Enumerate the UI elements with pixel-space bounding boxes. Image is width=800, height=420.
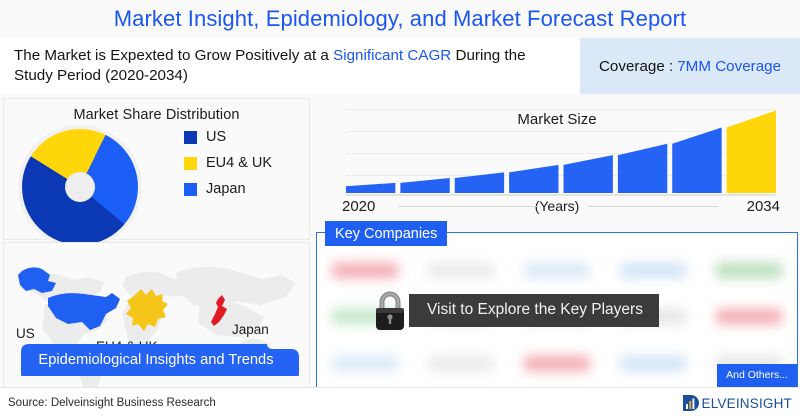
legend-label-japan: Japan: [206, 181, 246, 197]
epidemiology-banner[interactable]: Epidemiological Insights and Trends: [13, 344, 299, 376]
company-logo-cell: [701, 294, 797, 341]
bar: [564, 155, 613, 193]
axis-rule-left: [398, 206, 538, 207]
source-text: Source: Delveinsight Business Research: [8, 397, 216, 409]
market-growth-statement: The Market is Expexted to Grow Positivel…: [0, 38, 580, 94]
brand-wordmark: ELVEINSIGHT: [702, 396, 792, 411]
infographic-root: Market Insight, Epidemiology, and Market…: [0, 0, 800, 420]
axis-label-end: 2034: [747, 198, 780, 215]
pie-legend: US EU4 & UK Japan: [184, 129, 272, 197]
company-logo-blob: [620, 356, 686, 371]
and-others-badge[interactable]: And Others...: [717, 364, 797, 387]
company-logo-cell: [701, 247, 797, 294]
coverage-label: Coverage :: [599, 58, 673, 75]
bar: [400, 178, 449, 193]
coverage-panel: Coverage : 7MM Coverage: [580, 38, 800, 94]
bar: [346, 183, 395, 193]
epidemiology-map-card: US EU4 & UK Japan Epidemiological Insigh…: [4, 243, 309, 388]
company-logo-cell: [317, 340, 413, 387]
axis-rule-right: [588, 206, 718, 207]
company-logo-blob: [716, 309, 782, 324]
legend-swatch-japan: [184, 183, 197, 196]
map-label-us: US: [16, 326, 35, 341]
footer: Source: Delveinsight Business Research E…: [0, 387, 800, 420]
bar-plot: [346, 105, 776, 193]
company-logo-blob: [524, 356, 590, 371]
brand-d-icon: [682, 393, 701, 413]
company-logo-cell: [509, 340, 605, 387]
key-companies-tab: Key Companies: [325, 221, 447, 246]
market-size-chart: Market Size 2020 (Years) 2034: [316, 99, 798, 227]
company-logo-blob: [716, 263, 782, 278]
pie-chart-title: Market Share Distribution: [4, 99, 309, 123]
key-players-cta[interactable]: Visit to Explore the Key Players: [365, 285, 659, 335]
map-label-japan: Japan: [232, 322, 269, 337]
company-logo-blob: [332, 356, 398, 371]
key-players-label: Visit to Explore the Key Players: [409, 294, 659, 327]
company-logo-blob: [428, 356, 494, 371]
bar: [509, 165, 558, 193]
growth-text-part1: The Market is Expexted to Grow Positivel…: [14, 47, 333, 64]
company-logo-cell: [413, 340, 509, 387]
x-axis-line: [346, 194, 776, 196]
donut-chart: [22, 129, 138, 245]
bar: [672, 127, 721, 193]
company-logo-blob: [524, 263, 590, 278]
bar: [727, 111, 776, 193]
bar-series: [346, 105, 776, 193]
company-logo-blob: [620, 263, 686, 278]
company-logo-blob: [332, 263, 398, 278]
legend-label-eu: EU4 & UK: [206, 155, 272, 171]
company-logo-cell: [605, 340, 701, 387]
coverage-value: 7MM Coverage: [677, 58, 781, 75]
delveinsight-logo: ELVEINSIGHT: [682, 393, 792, 413]
key-companies-card: Key Companies Visit to Explore the Key P…: [316, 232, 798, 388]
legend-item-us: US: [184, 129, 272, 145]
legend-item-eu: EU4 & UK: [184, 155, 272, 171]
bar: [618, 144, 667, 193]
subheader-row: The Market is Expexted to Grow Positivel…: [0, 38, 800, 94]
legend-label-us: US: [206, 129, 226, 145]
axis-label-years: (Years): [316, 198, 798, 214]
legend-swatch-eu: [184, 157, 197, 170]
growth-text-accent: Significant CAGR: [333, 47, 451, 64]
legend-swatch-us: [184, 131, 197, 144]
company-logo-blob: [428, 263, 494, 278]
epidemiology-banner-label: Epidemiological Insights and Trends: [38, 352, 273, 368]
bar: [455, 172, 504, 193]
market-share-card: Market Share Distribution US EU4 & UK Ja…: [4, 99, 309, 239]
pie-chart-area: US EU4 & UK Japan: [4, 123, 309, 231]
legend-item-japan: Japan: [184, 181, 272, 197]
page-title: Market Insight, Epidemiology, and Market…: [0, 0, 800, 38]
lock-icon: [365, 285, 415, 335]
